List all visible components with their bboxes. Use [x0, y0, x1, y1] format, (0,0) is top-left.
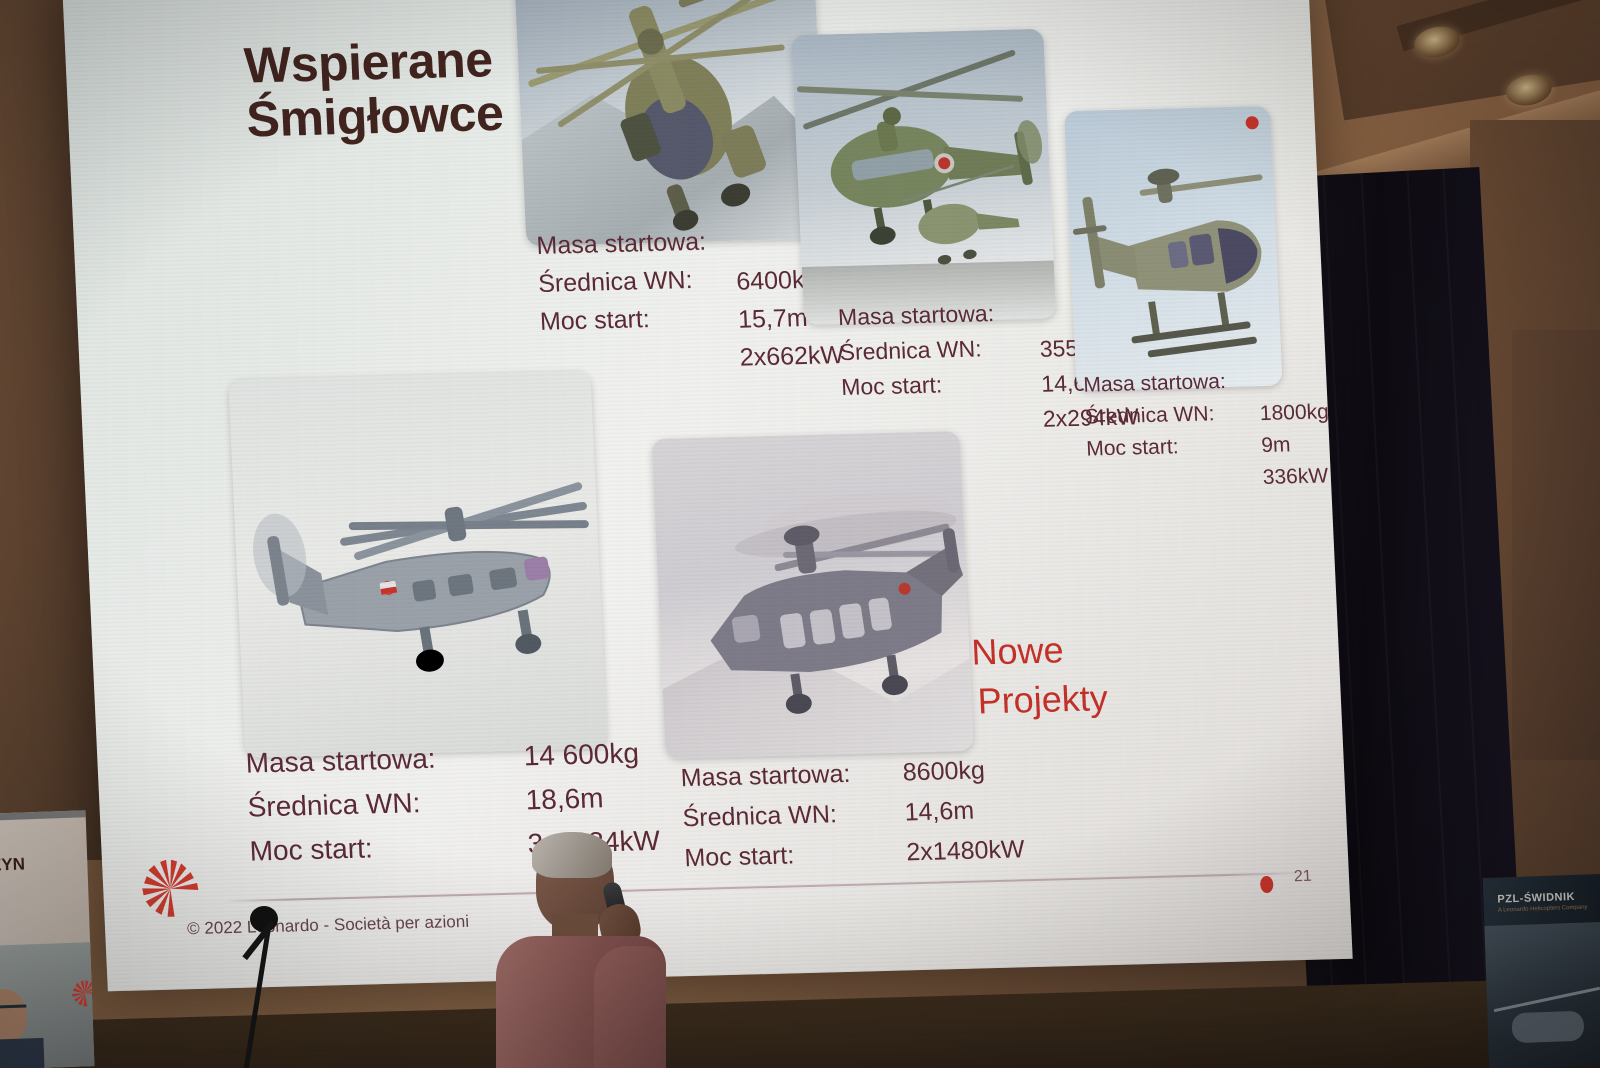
spec-value-power: 336kW [1262, 464, 1328, 490]
spec-label-rotor: Średnica WN: [1084, 402, 1215, 429]
helicopter-photo-aw149 [651, 431, 973, 759]
banner-rotor-blade [1494, 987, 1600, 1012]
spec-label-rotor: Średnica WN: [538, 266, 694, 299]
callout-nowe-projekty: Nowe Projekty [970, 625, 1108, 726]
helicopter-illustration [1064, 106, 1283, 391]
microphone-stand [228, 900, 388, 1068]
callout-line2: Projekty [977, 674, 1109, 726]
presenter-hair [532, 832, 612, 878]
rollup-banner-right: PZL-ŚWIDNIK A Leonardo Helicopters Compa… [1483, 874, 1600, 1068]
spec-label-power: Moc start: [684, 841, 795, 873]
presentation-slide: Wspierane Śmigłowce [63, 0, 1353, 991]
spec-label-rotor: Średnica WN: [682, 800, 838, 833]
spec-value-mass: 1800kg [1259, 400, 1329, 426]
conference-room-photo: Wspierane Śmigłowce [0, 0, 1600, 1068]
spec-label-mass: Masa startowa: [837, 300, 994, 331]
footer-divider [222, 872, 1312, 903]
spec-value-rotor: 9m [1261, 433, 1291, 458]
banner-person-torso [0, 1038, 45, 1068]
projection-screen-wrapper: Wspierane Śmigłowce [0, 0, 1377, 1011]
spec-label-mass: Masa startowa: [1083, 370, 1226, 398]
spec-label-rotor: Średnica WN: [247, 787, 421, 823]
presenter-arm [594, 946, 666, 1068]
spec-label-mass: Masa startowa: [536, 228, 707, 261]
spec-label-power: Moc start: [249, 832, 373, 867]
helicopter-photo-aw101 [228, 371, 607, 758]
helicopter-photo-sw4 [1064, 106, 1283, 391]
banner-top-bar [0, 810, 86, 821]
spec-label-mass: Masa startowa: [245, 743, 436, 780]
rollup-banner-left: ASZYN A skiej [0, 810, 94, 1068]
presenter-silhouette [490, 832, 670, 1068]
spec-label-power: Moc start: [1086, 435, 1179, 461]
banner-right-photo [1484, 922, 1600, 1068]
helicopter-illustration [791, 29, 1056, 325]
spec-value-mass: 14 600kg [523, 737, 640, 772]
spec-value-rotor: 15,7m [737, 304, 808, 335]
projection-screen: Wspierane Śmigłowce [63, 0, 1353, 991]
glasses-icon [0, 1004, 27, 1017]
spec-value-power: 2x662kW [739, 341, 845, 373]
spec-value-rotor: 14,6m [904, 797, 975, 828]
leonardo-logo-icon [140, 859, 201, 918]
banner-right-brand: PZL-ŚWIDNIK [1497, 891, 1575, 906]
spec-label-mass: Masa startowa: [680, 760, 851, 793]
banner-left-logo-icon [71, 980, 94, 1007]
spec-value-power: 2x1480kW [906, 835, 1025, 867]
spec-value-mass: 8600kg [902, 756, 985, 787]
helicopter-illustration [513, 0, 827, 246]
banner-right-subtitle: A Leonardo Helicopters Company [1498, 904, 1588, 913]
spec-label-power: Moc start: [539, 305, 650, 337]
callout-line1: Nowe [970, 625, 1106, 677]
banner-left-line1: ASZYN [0, 854, 25, 876]
footer-accent-dot [1260, 876, 1274, 893]
banner-helicopter-body [1511, 1011, 1584, 1043]
helicopter-illustration [651, 431, 973, 759]
slide-number: 21 [1294, 868, 1313, 886]
helicopter-photo-w3 [513, 0, 827, 246]
helicopter-photo-mi2 [791, 29, 1056, 325]
spec-value-rotor: 18,6m [525, 782, 604, 816]
spec-label-power: Moc start: [841, 371, 943, 401]
right-wall-panel [1512, 330, 1600, 760]
spec-label-rotor: Średnica WN: [839, 335, 982, 366]
helicopter-illustration [228, 371, 607, 758]
